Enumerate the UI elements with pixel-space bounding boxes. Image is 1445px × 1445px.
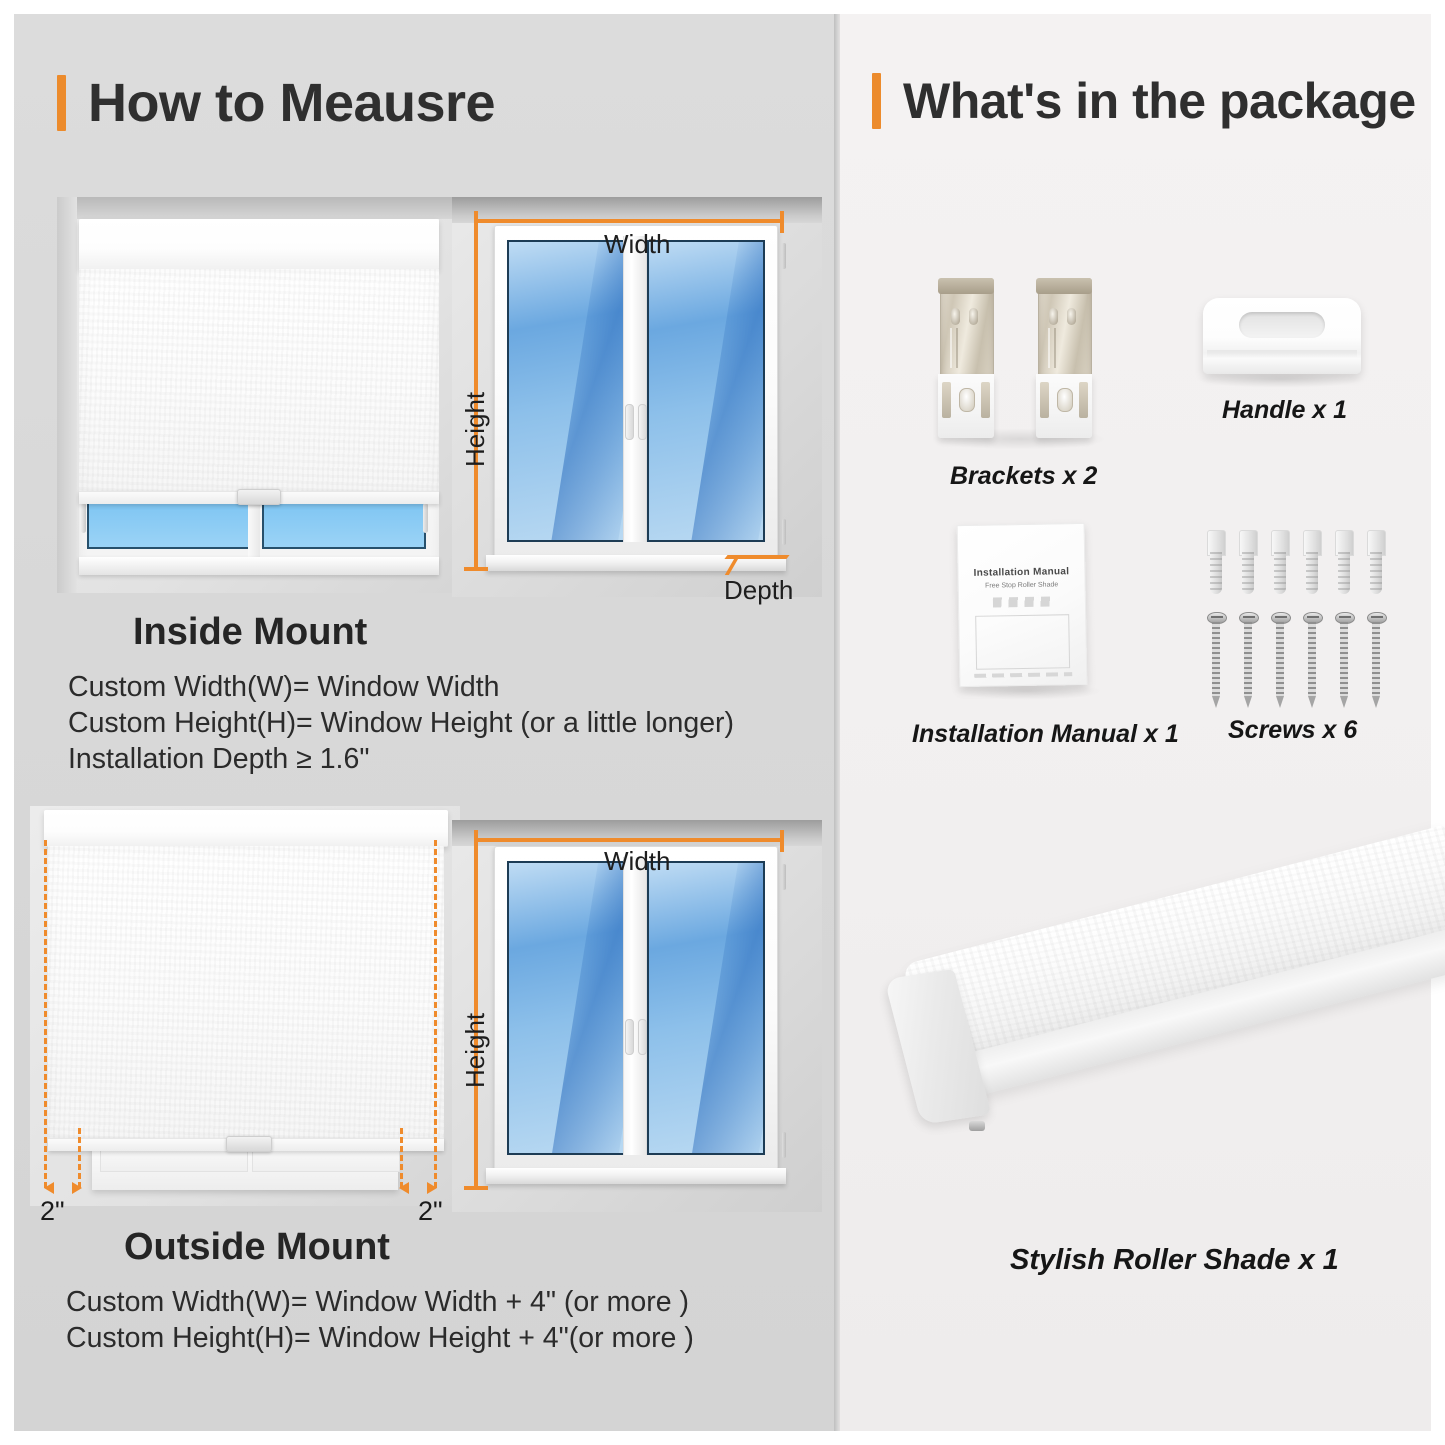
inside-mount-line-3: Installation Depth ≥ 1.6" <box>68 741 369 778</box>
height-cap-bottom <box>464 1186 488 1190</box>
window-sash <box>494 225 778 557</box>
window-hinge-bottom-icon <box>782 519 786 545</box>
screw-icon <box>1271 612 1289 708</box>
wall-anchor-icon <box>1366 530 1386 594</box>
product-infographic: How to Meausre What's in the package <box>0 0 1445 1445</box>
window-mullion <box>623 857 647 1155</box>
overhang-arrow-right <box>399 1182 437 1194</box>
shade-pull-handle <box>237 489 281 505</box>
handle-icon <box>1203 298 1361 374</box>
brackets-label: Brackets x 2 <box>950 462 1097 491</box>
window-sill <box>486 1168 786 1184</box>
width-label: Width <box>604 229 670 260</box>
window-handle-left-icon <box>625 1019 634 1055</box>
roller-shade-icon <box>895 925 1425 1225</box>
window-pane-left <box>87 497 251 549</box>
wall-anchor-icon <box>1206 530 1226 594</box>
overhang-label-right: 2" <box>418 1196 443 1227</box>
bracket-icon <box>1036 278 1092 438</box>
overhang-arrow-left <box>44 1182 82 1194</box>
manual-cover-title: Installation Manual <box>968 566 1074 579</box>
window-pane-left <box>507 240 625 542</box>
outside-mount-line-2: Custom Height(H)= Window Height + 4"(or … <box>66 1320 694 1357</box>
width-cap-right <box>780 211 784 233</box>
window-pane-left <box>507 861 625 1155</box>
shade-fabric <box>48 846 444 1144</box>
roller-shade-pin <box>969 1121 985 1131</box>
outside-mount-title: Outside Mount <box>124 1226 390 1269</box>
outside-mount-window-diagram: Width Height <box>452 820 822 1212</box>
shade-fabric <box>79 269 439 497</box>
width-label: Width <box>604 846 670 877</box>
roller-shade-label: Stylish Roller Shade x 1 <box>1010 1244 1339 1277</box>
package-heading: What's in the package <box>872 72 1416 130</box>
window-recess-left <box>57 197 77 593</box>
window-recess-top <box>57 197 453 219</box>
screw-icon <box>1367 612 1385 708</box>
window-pane-right <box>647 861 765 1155</box>
height-cap-bottom <box>464 567 488 571</box>
manual-cover-scribble <box>993 596 1051 607</box>
manual-cover-subtitle: Free Stop Roller Shade <box>969 581 1075 590</box>
overhang-guide-left-outer <box>44 840 47 1188</box>
window-hinge-bottom-icon <box>782 1132 786 1158</box>
inside-mount-shade-illustration <box>57 197 453 593</box>
outside-mount-line-1: Custom Width(W)= Window Width + 4" (or m… <box>66 1284 689 1321</box>
manual-cover-footer <box>974 672 1072 678</box>
depth-label: Depth <box>724 575 793 606</box>
inside-mount-line-1: Custom Width(W)= Window Width <box>68 669 500 706</box>
bracket-icon <box>938 278 994 438</box>
window-hinge-top-icon <box>782 243 786 269</box>
screw-icon <box>1303 612 1321 708</box>
screw-icon <box>1239 612 1257 708</box>
inside-mount-window-diagram: Width Height Depth <box>452 197 822 597</box>
overhang-guide-left-inner <box>78 1128 81 1188</box>
outside-mount-shade-illustration <box>30 806 460 1206</box>
manual-cover-figure <box>975 614 1070 670</box>
height-label: Height <box>460 392 491 467</box>
handle-label: Handle x 1 <box>1222 396 1347 425</box>
inside-mount-line-2: Custom Height(H)= Window Height (or a li… <box>68 705 734 742</box>
inside-mount-title: Inside Mount <box>133 611 367 654</box>
manual-label: Installation Manual x 1 <box>912 720 1179 749</box>
window-sill <box>79 557 439 575</box>
overhang-label-left: 2" <box>40 1196 65 1227</box>
wall-anchor-icon <box>1302 530 1322 594</box>
window-pane-right <box>647 240 765 542</box>
window-hinge-top-icon <box>782 864 786 890</box>
screw-icon <box>1335 612 1353 708</box>
window-handle-right-icon <box>638 404 647 440</box>
window-handle-left-icon <box>81 503 86 533</box>
accent-bar-icon <box>872 73 881 129</box>
shade-valance <box>79 219 439 270</box>
overhang-guide-right-outer <box>434 840 437 1188</box>
manual-icon: Installation Manual Free Stop Roller Sha… <box>957 523 1088 687</box>
window-sash <box>494 846 778 1170</box>
screws-label: Screws x 6 <box>1228 716 1357 745</box>
how-to-measure-heading: How to Meausre <box>57 72 495 134</box>
width-measure-line <box>474 219 784 223</box>
wall-anchor-icon <box>1334 530 1354 594</box>
shade-valance <box>44 810 448 847</box>
screw-icon <box>1207 612 1225 708</box>
window-header-reveal <box>452 820 822 846</box>
window-mullion <box>623 236 647 542</box>
height-label: Height <box>460 1013 491 1088</box>
wall-anchor-icon <box>1270 530 1290 594</box>
width-cap-right <box>780 830 784 852</box>
package-title: What's in the package <box>903 72 1416 130</box>
window-handle-right-icon <box>423 503 428 533</box>
how-to-measure-title: How to Meausre <box>88 72 495 134</box>
shade-pull-handle <box>226 1136 272 1152</box>
accent-bar-icon <box>57 75 66 131</box>
width-measure-line <box>474 838 784 842</box>
wall-anchor-icon <box>1238 530 1258 594</box>
window-handle-left-icon <box>625 404 634 440</box>
overhang-guide-right-inner <box>400 1128 403 1188</box>
window-handle-right-icon <box>638 1019 647 1055</box>
window-pane-right <box>262 497 426 549</box>
